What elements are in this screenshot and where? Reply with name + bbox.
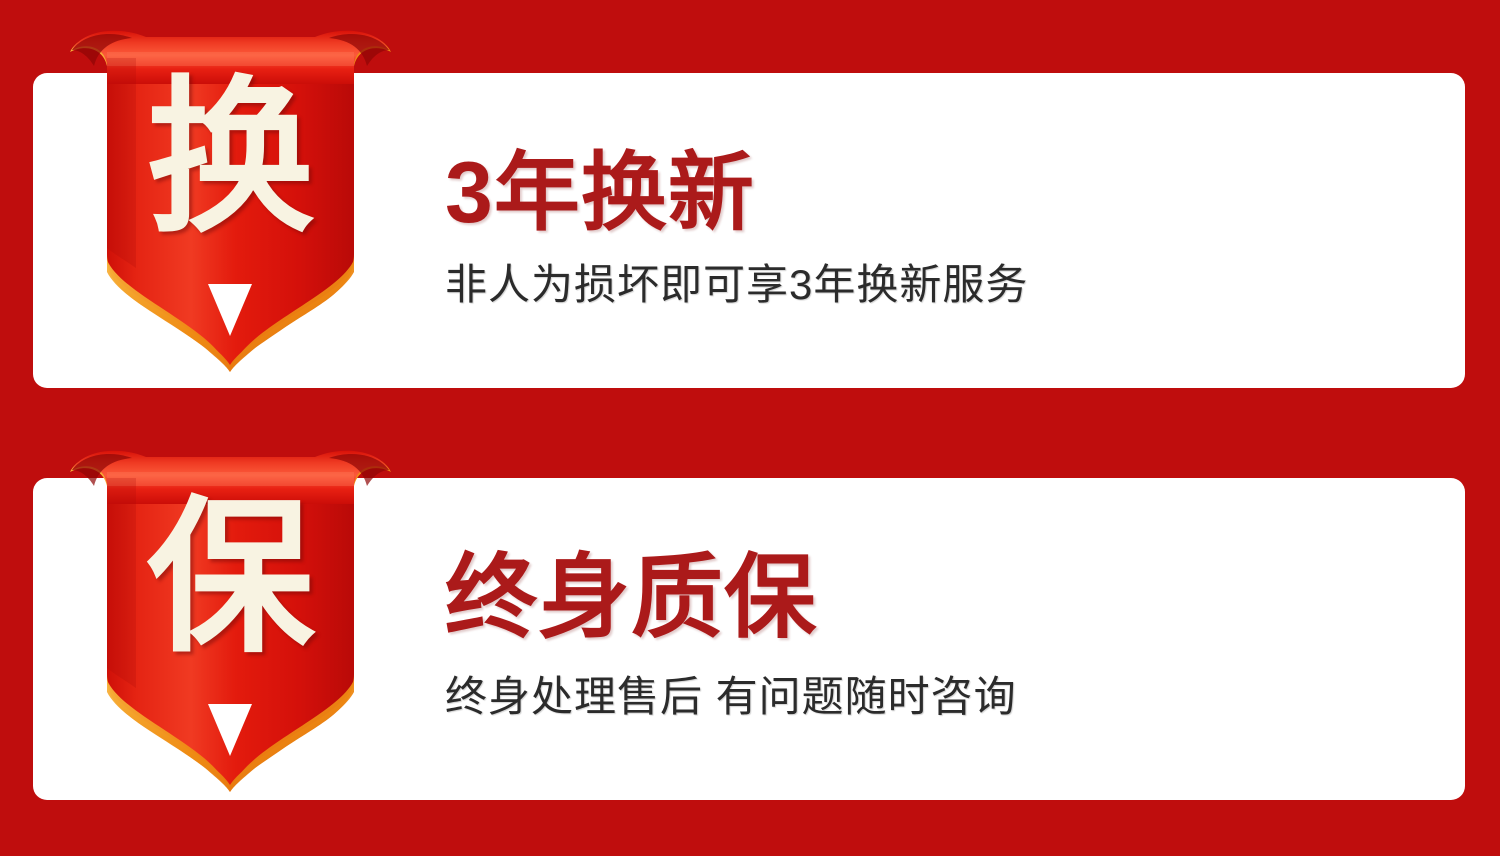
card-headline: 终身质保 (445, 552, 1017, 644)
service-guarantee-banner: 3年换新 非人为损坏即可享3年换新服务 (0, 0, 1500, 856)
card-text-block: 终身质保 终身处理售后 有问题随时咨询 (445, 478, 1017, 800)
card-subtitle: 终身处理售后 有问题随时咨询 (445, 674, 1017, 720)
badge-glyph-label: 保 (58, 494, 403, 662)
card-subtitle: 非人为损坏即可享3年换新服务 (445, 262, 1028, 308)
card-text-block: 3年换新 非人为损坏即可享3年换新服务 (445, 73, 1028, 388)
badge-glyph-label: 换 (58, 74, 403, 242)
warranty-ribbon-badge-icon: 保 (58, 442, 403, 792)
card-headline: 3年换新 (445, 150, 1028, 236)
exchange-ribbon-badge-icon: 换 (58, 22, 403, 372)
